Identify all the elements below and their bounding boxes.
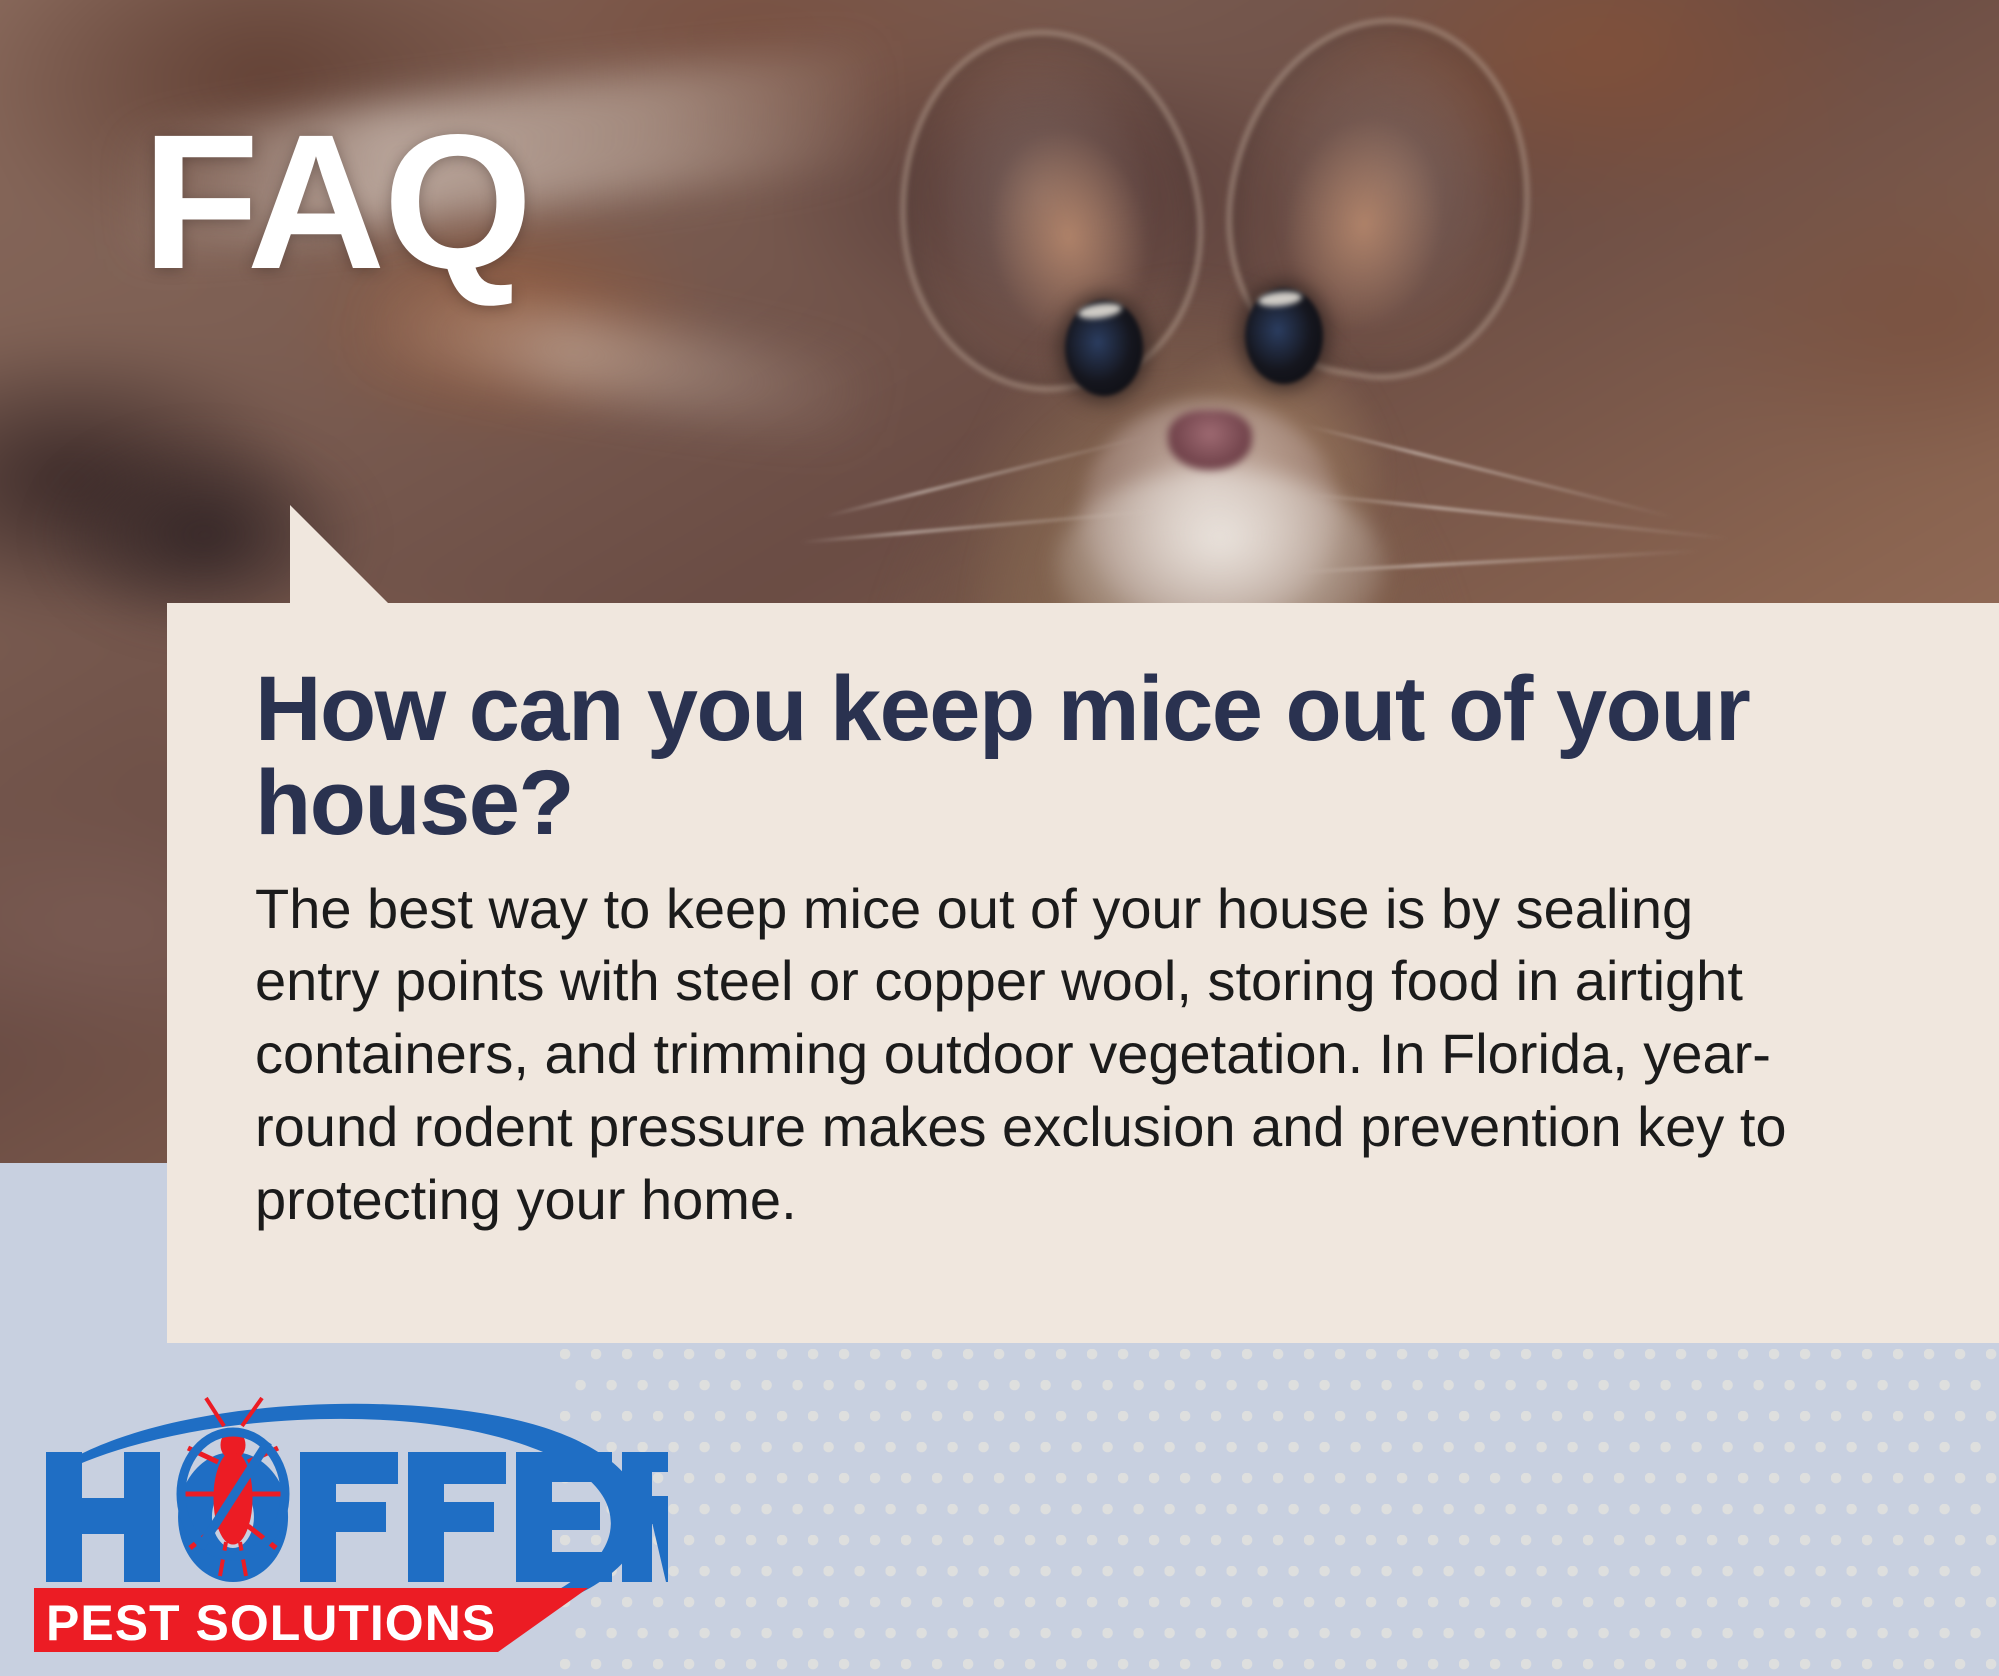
faq-answer: The best way to keep mice out of your ho… (255, 873, 1815, 1237)
mouse-nose (1168, 410, 1252, 470)
hoffer-pest-solutions-logo[interactable]: PEST SOLUTIONS (28, 1390, 668, 1660)
faq-question: How can you keep mice out of your house? (255, 663, 1915, 851)
logo-wordmark-hoffer (46, 1452, 668, 1582)
faq-graphic: FAQ How can you keep mice out of your ho… (0, 0, 1999, 1676)
faq-badge-title: FAQ (142, 108, 531, 296)
logo-tagline-text: PEST SOLUTIONS (46, 1595, 496, 1651)
speech-bubble-content: How can you keep mice out of your house?… (255, 663, 1915, 1237)
